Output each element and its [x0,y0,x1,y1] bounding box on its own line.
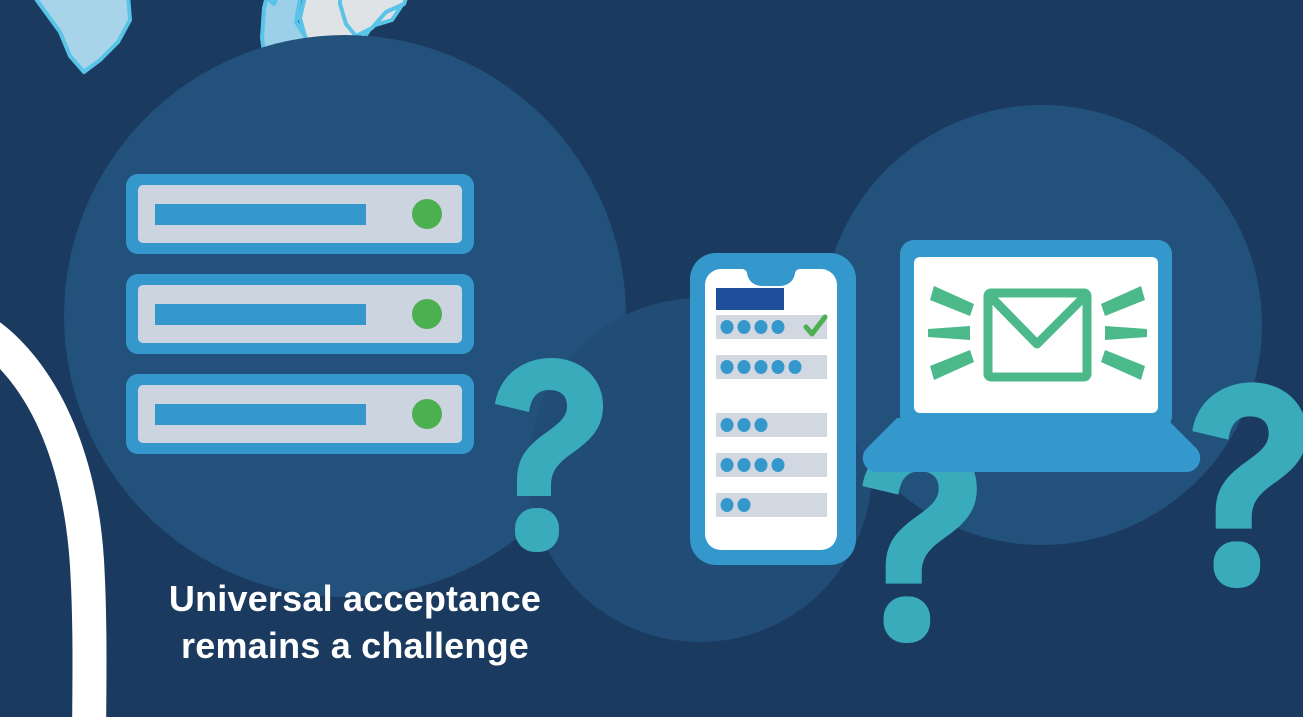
phone-row-1-dot-2 [738,320,751,334]
phone-header-bar [716,288,784,310]
server-unit-3 [126,374,474,454]
phone-row-4 [716,453,827,477]
phone-row-2-dot-2 [738,360,751,374]
phone-row-3 [716,413,827,437]
phone-row-2 [716,355,827,379]
phone-row-4-dot-1 [721,458,734,472]
phone-row-5 [716,493,827,517]
phone-row-4-dot-3 [755,458,768,472]
phone-row-5-dot-1 [721,498,734,512]
server-unit-2-status-led [412,299,442,329]
phone-row-1-dot-4 [772,320,785,334]
phone-row-2-dot-5 [789,360,802,374]
phone-row-2-dot-4 [772,360,785,374]
phone-row-2-dot-1 [721,360,734,374]
phone-row-1-dot-3 [755,320,768,334]
headline-text: Universal acceptance remains a challenge [60,575,650,669]
server-rack-illustration [126,174,474,454]
phone-row-3-dot-1 [721,418,734,432]
phone-row-4-dot-4 [772,458,785,472]
phone-row-3-dot-3 [755,418,768,432]
server-unit-3-status-led [412,399,442,429]
phone-row-3-dot-2 [738,418,751,432]
smartphone-illustration [690,253,856,565]
phone-row-2-dot-3 [755,360,768,374]
server-unit-2 [126,274,474,354]
server-unit-1-bar [155,204,366,225]
phone-row-4-dot-2 [738,458,751,472]
phone-row-1 [716,315,827,339]
server-unit-1-status-led [412,199,442,229]
laptop-illustration [863,240,1200,472]
server-unit-2-bar [155,304,366,325]
phone-row-1-dot-1 [721,320,734,334]
server-unit-1 [126,174,474,254]
server-unit-3-bar [155,404,366,425]
phone-row-5-dot-2 [738,498,751,512]
illustration-canvas: Universal acceptance remains a challenge [0,0,1303,717]
